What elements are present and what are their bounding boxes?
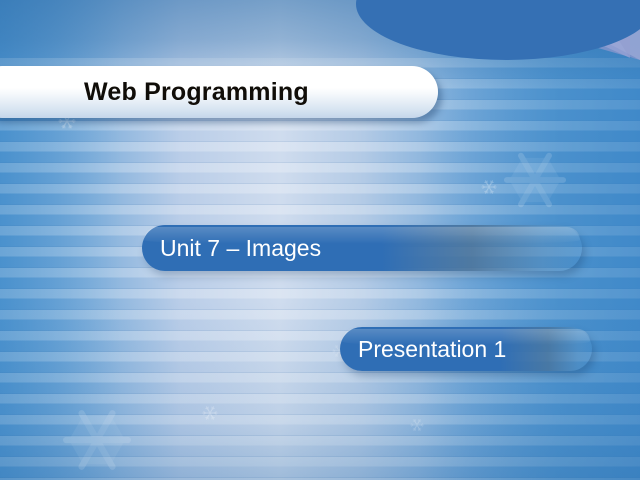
- slide-canvas: Web Programming Unit 7 – Images Presenta…: [0, 0, 640, 480]
- corner-ellipse-icon: [356, 0, 640, 60]
- slide-title-bar: Web Programming: [0, 66, 438, 118]
- page-title: Web Programming: [84, 78, 309, 107]
- slide-unit-bar: Unit 7 – Images: [142, 225, 582, 271]
- corner-decoration: [0, 0, 640, 70]
- presentation-subtitle: Presentation 1: [358, 336, 506, 363]
- unit-subtitle: Unit 7 – Images: [160, 235, 321, 262]
- slide-presentation-bar: Presentation 1: [340, 327, 592, 371]
